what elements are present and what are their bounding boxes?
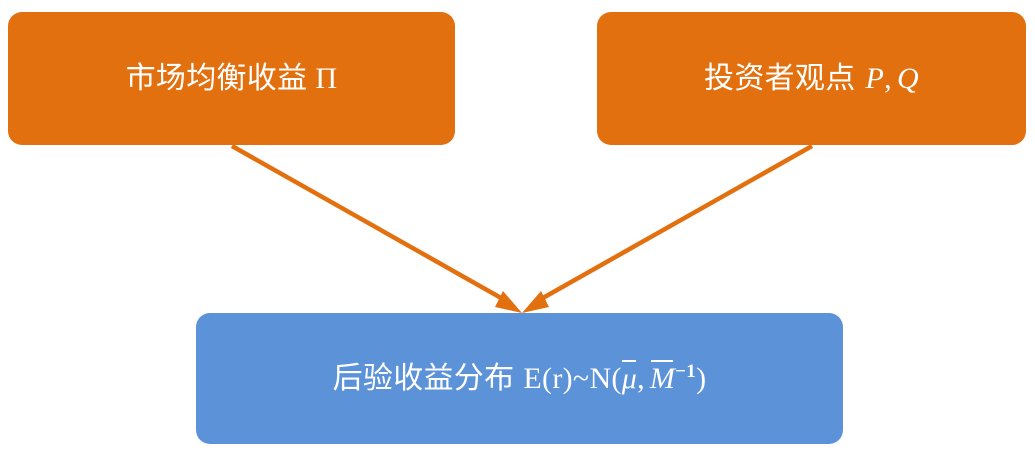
node-posterior-label-expectation: E(r) [523,362,573,395]
node-posterior-label-tilde: ~ [573,362,590,395]
node-views-label-cjk: 投资者观点 [704,62,856,95]
arrowhead-market-to-posterior [495,291,522,313]
node-market-equilibrium-returns[interactable]: 市场均衡收益Π [8,12,455,145]
node-posterior-label: 后验收益分布E(r)~N(μ,M−1) [333,362,707,395]
node-investor-views[interactable]: 投资者观点P,Q [597,12,1026,145]
node-posterior-return-distribution[interactable]: 后验收益分布E(r)~N(μ,M−1) [196,313,843,444]
node-posterior-label-normal: N( [589,362,621,395]
node-posterior-label-exponent: −1 [675,361,696,382]
node-posterior-label-cjk: 后验收益分布 [333,362,515,395]
edge-line-views-to-posterior [534,146,812,303]
node-views-label-p: P [866,62,885,95]
edge-line-market-to-posterior [232,146,510,303]
node-posterior-label-m-bar: M [650,362,675,395]
node-views-label: 投资者观点P,Q [704,62,919,95]
node-views-label-comma: , [884,62,892,95]
edge-market-to-posterior [232,146,522,313]
node-views-label-q: Q [897,62,919,95]
diagram-canvas: 市场均衡收益Π 投资者观点P,Q 后验收益分布E(r)~N(μ,M−1) [0,0,1035,456]
node-posterior-label-separator: , [637,362,645,395]
node-market-label-pi: Π [315,62,337,95]
node-market-label-cjk: 市场均衡收益 [126,62,308,95]
node-posterior-label-close-paren: ) [696,362,706,395]
node-market-label: 市场均衡收益Π [126,62,338,95]
edge-views-to-posterior [522,146,812,313]
node-posterior-label-mu-bar: μ [622,362,637,395]
arrowhead-views-to-posterior [522,291,549,313]
